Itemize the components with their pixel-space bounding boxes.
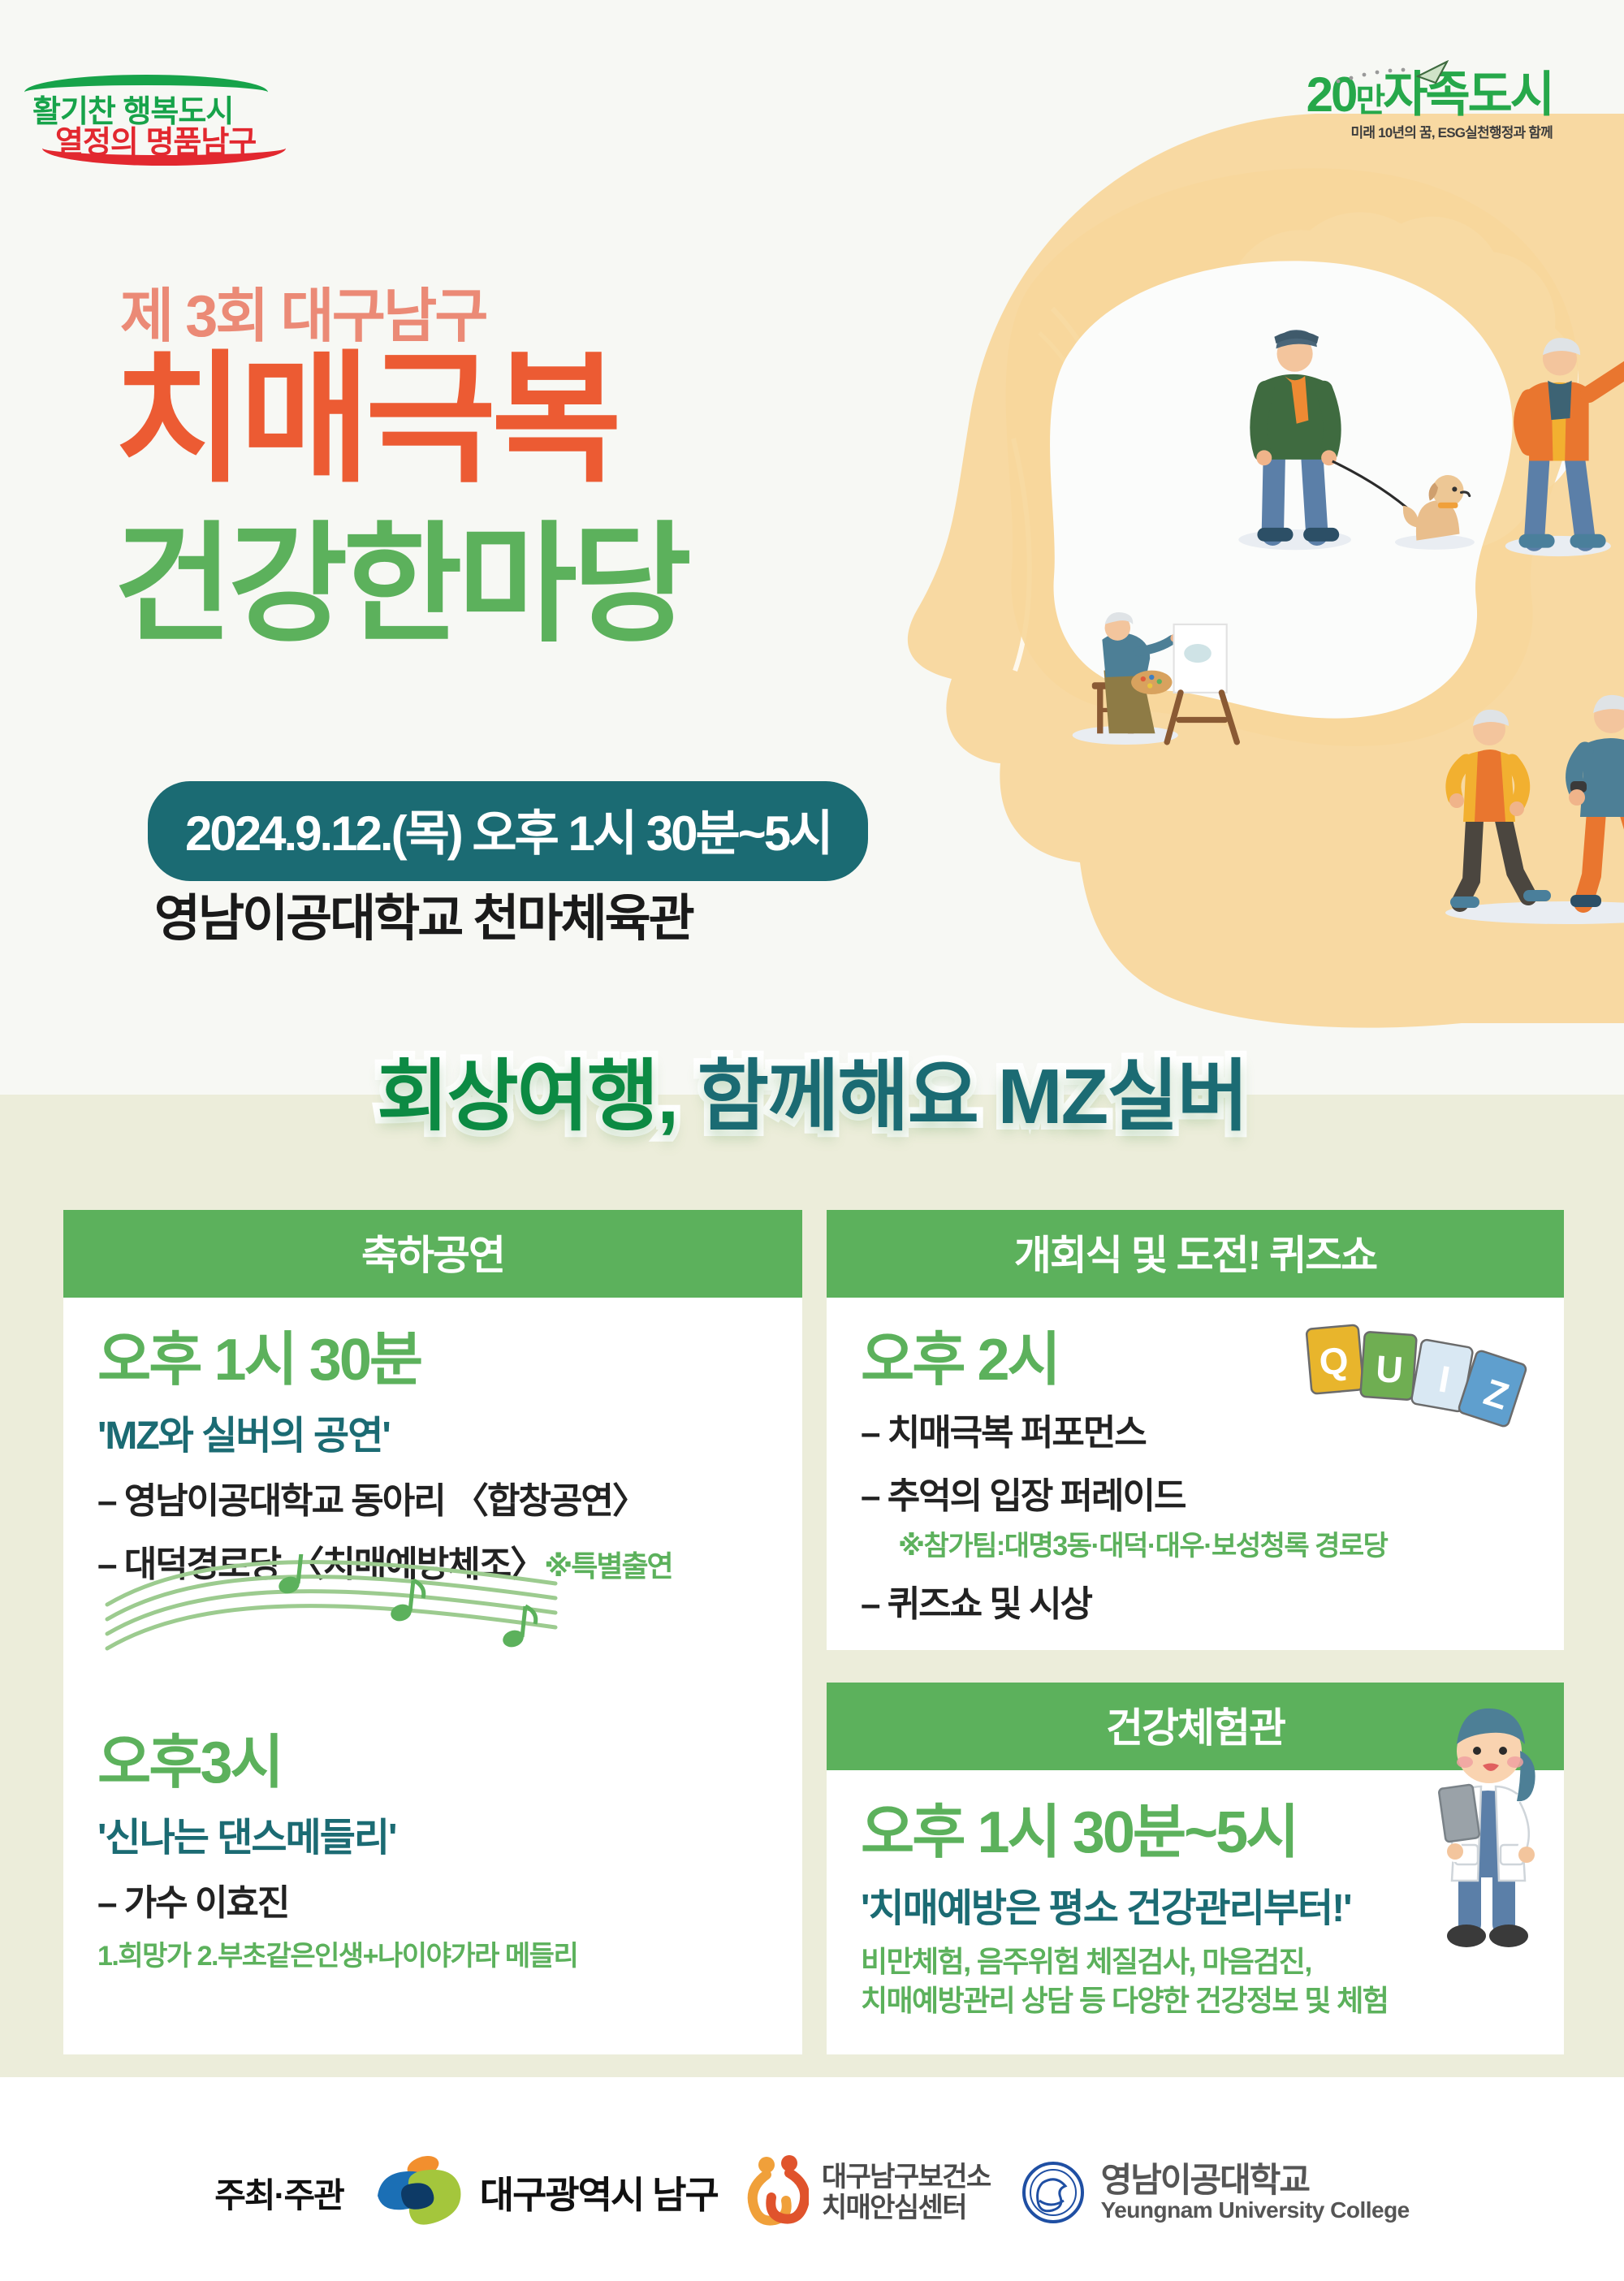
city-badge-tagline: 미래 10년의 꿈, ESG실천행정과 함께	[1260, 121, 1553, 141]
footer-org-health-center: 대구남구보건소 치매안심센터	[745, 2155, 991, 2230]
slogan-part-teal: 함께해요 MZ실버	[698, 1053, 1247, 1140]
celebration-quote-2: '신나는 댄스메들리'	[97, 1805, 768, 1862]
footer-label: 주최·주관	[214, 2168, 343, 2218]
event-slogan: 회상여행, 함께해요 MZ실버	[0, 1033, 1624, 1146]
footer-org2-line1: 대구남구보건소	[822, 2162, 991, 2192]
card-opening-quiz-header: 개회식 및 도전! 퀴즈쇼	[827, 1210, 1564, 1298]
svg-text:Q: Q	[1318, 1339, 1350, 1384]
celebration-quote-1: 'MZ와 실버의 공연'	[97, 1403, 768, 1460]
footer-organizers: 주최·주관 대구광역시 남구 대구남구보건소 치매안심센터 영	[0, 2128, 1624, 2257]
yeungnam-college-seal-icon	[1018, 2155, 1088, 2230]
footer-org1-name: 대구광역시 남구	[480, 2166, 718, 2219]
footer-org3-name: 영남이공대학교 Yeungnam University College	[1101, 2162, 1410, 2222]
card-celebration-body: 오후 1시 30분 'MZ와 실버의 공연' – 영남이공대학교 동아리 〈합창…	[63, 1298, 802, 1996]
namgu-slogan-logo: 활기찬 행복도시 열정의 명품남구	[0, 75, 292, 172]
celebration-item-1: – 영남이공대학교 동아리 〈합창공연〉	[97, 1471, 768, 1523]
svg-text:U: U	[1375, 1347, 1405, 1391]
music-staff-icon	[104, 1554, 559, 1676]
celebration-item-2-note: ※특별출연	[544, 1549, 672, 1583]
card-celebration-header: 축하공연	[63, 1210, 802, 1298]
head-brain-illustration	[796, 89, 1624, 1064]
quiz-item-2: – 추억의 입장 퍼레이드	[861, 1467, 1530, 1519]
celebration-time-2: 오후3시	[97, 1733, 768, 1795]
city-badge-logo: 20만자족도시 미래 10년의 꿈, ESG실천행정과 함께	[1260, 71, 1553, 177]
quiz-parade-note: ※참가팀:대명3동·대덕·대우·보성청록 경로당	[898, 1523, 1530, 1563]
footer-org2-line2: 치매안심센터	[822, 2192, 991, 2223]
footer-org3-english: Yeungnam University College	[1101, 2198, 1410, 2222]
paper-plane-icon	[1333, 60, 1455, 88]
footer-org-daegu-namgu: 대구광역시 남구	[371, 2155, 718, 2230]
health-detail-2: 치매예방관리 상담 등 다양한 건강정보 및 체험	[861, 1981, 1530, 2021]
card-health-experience-body: 오후 1시 30분~5시 '치매예방은 평소 건강관리부터!' 비만체험, 음주…	[827, 1770, 1564, 2044]
slogan-part-green: 회상여행,	[377, 1053, 677, 1140]
card-health-experience: 건강체험관	[827, 1683, 1564, 2054]
daegu-namgu-logo-icon	[371, 2155, 467, 2230]
venue-label: 영남이공대학교 천마체육관	[154, 877, 693, 950]
city-badge-unit: 만	[1355, 83, 1383, 119]
footer-org2-name: 대구남구보건소 치매안심센터	[822, 2162, 991, 2223]
namgu-slogan-line2: 열정의 명품남구	[55, 117, 256, 162]
date-time-badge: 2024.9.12.(목) 오후 1시 30분~5시	[148, 781, 868, 881]
card-opening-quiz-body: Q U I Z 오후 2시 – 치매극복 퍼포먼스 – 추억의 입장 퍼레이드 …	[827, 1298, 1564, 1649]
celebration-time-1: 오후 1시 30분	[97, 1330, 768, 1392]
celebration-item-3: – 가수 이효진	[97, 1873, 768, 1925]
poster-subtitle: 건강한마당	[114, 520, 687, 650]
quiz-tiles-icon: Q U I Z	[1304, 1315, 1531, 1462]
celebration-songs: 1.희망가 2.부초같은인생+나이야가라 메들리	[97, 1933, 768, 1973]
poster-title: 치매극복	[114, 349, 617, 491]
quiz-item-3: – 퀴즈쇼 및 시상	[861, 1575, 1530, 1627]
footer-org-yeungnam: 영남이공대학교 Yeungnam University College	[1018, 2155, 1410, 2230]
card-celebration: 축하공연 오후 1시 30분 'MZ와 실버의 공연' – 영남이공대학교 동아…	[63, 1210, 802, 2054]
footer-org3-korean: 영남이공대학교	[1101, 2162, 1410, 2198]
doctor-character-icon	[1413, 1700, 1567, 1968]
card-opening-quiz: 개회식 및 도전! 퀴즈쇼 Q U I Z 오후 2시 – 치매극복 퍼포먼스 …	[827, 1210, 1564, 1650]
dementia-center-logo-icon	[745, 2155, 809, 2230]
